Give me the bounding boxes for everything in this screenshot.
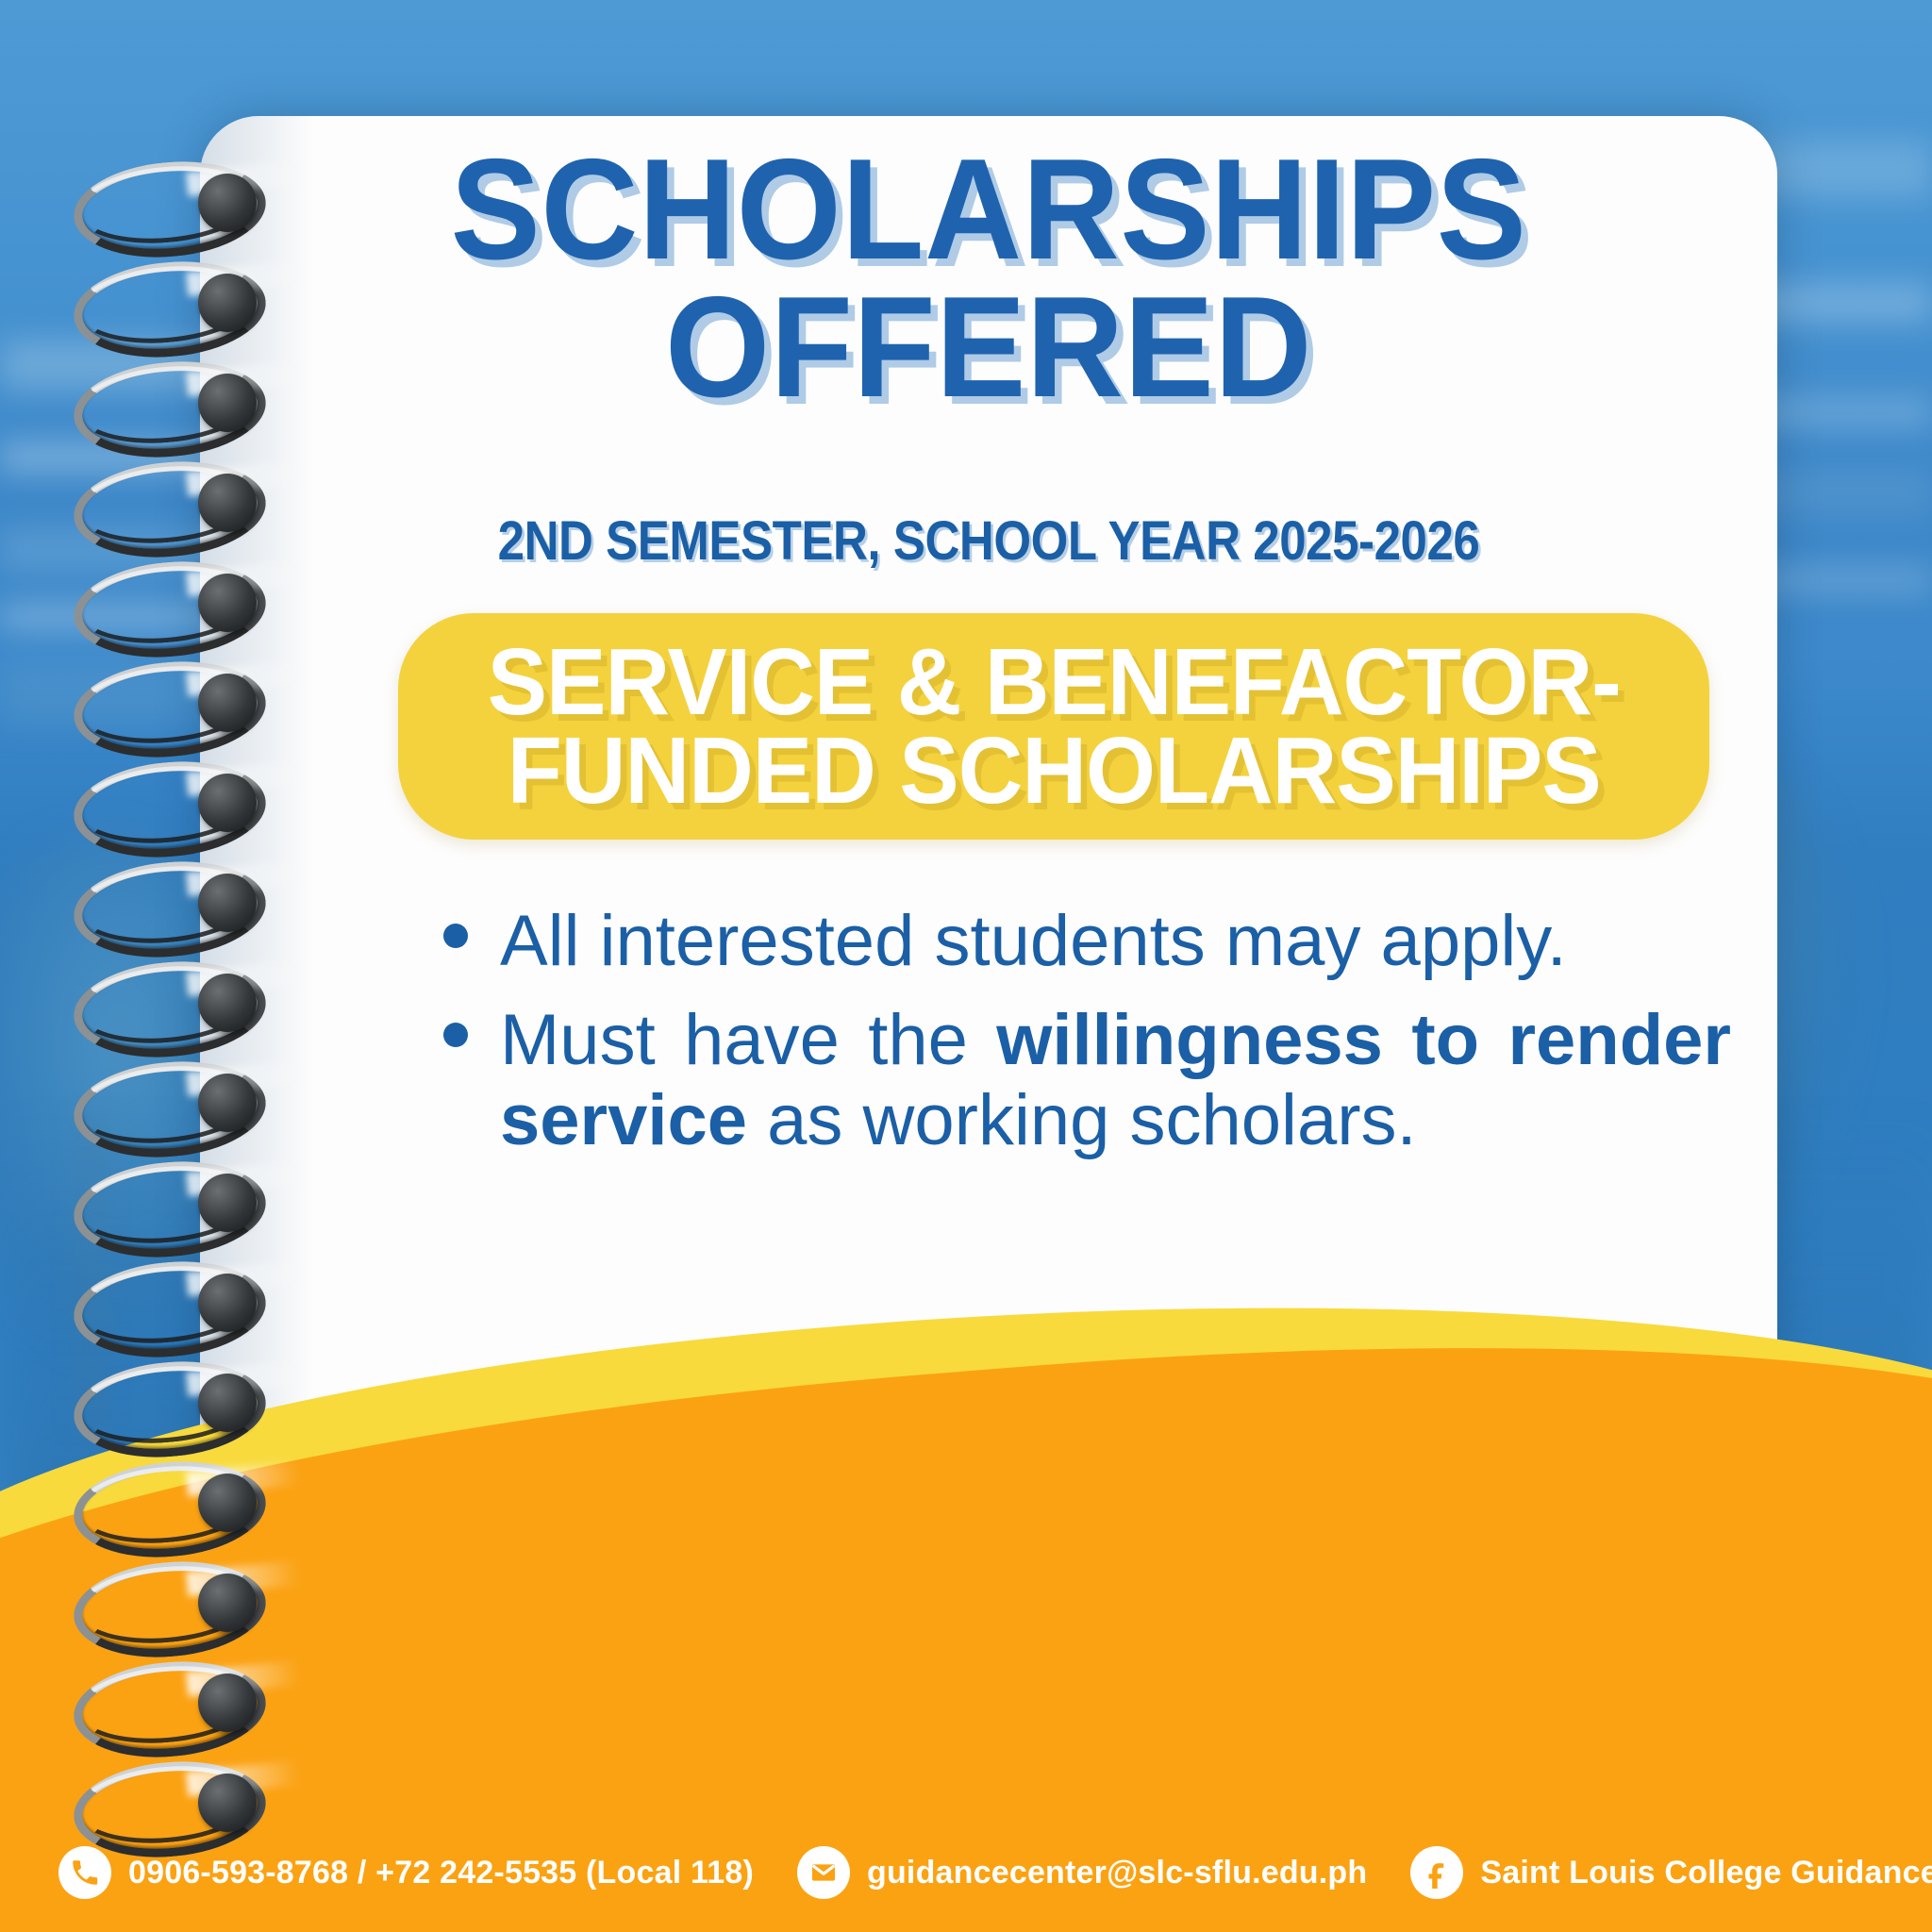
headline-line-1: SCHOLARSHIPS: [451, 129, 1527, 290]
spiral-ring: [74, 562, 272, 641]
bullet-2-pre: Must have the: [500, 1000, 996, 1080]
bullet-text-1: All interested students may apply.: [500, 901, 1731, 981]
spiral-ring: [74, 1462, 272, 1541]
requirements-list: All interested students may apply. Must …: [443, 901, 1731, 1179]
banner-text: SERVICE & BENEFACTOR- FUNDED SCHOLARSHIP…: [464, 638, 1644, 815]
envelope-icon: [797, 1846, 850, 1899]
facebook-text: Saint Louis College Guidance Center: [1480, 1855, 1932, 1891]
spiral-ring: [74, 1162, 272, 1241]
spiral-ring: [74, 362, 272, 441]
spiral-ring: [74, 1762, 272, 1841]
spiral-ring: [74, 862, 272, 941]
spiral-ring: [74, 762, 272, 841]
bullet-dot-icon: [443, 1023, 468, 1047]
spiral-ring: [74, 1262, 272, 1341]
bullet-text-2: Must have the willingness to render serv…: [500, 1000, 1731, 1160]
spiral-binding: [0, 0, 396, 1932]
list-item: All interested students may apply.: [443, 901, 1731, 981]
bullet-2-post: as working scholars.: [747, 1080, 1417, 1160]
spiral-ring: [74, 1362, 272, 1441]
contact-facebook[interactable]: Saint Louis College Guidance Center: [1410, 1846, 1932, 1899]
banner-line-2: FUNDED SCHOLARSHIPS: [487, 726, 1620, 815]
poster-canvas: SCHOLARSHIPS OFFERED 2ND SEMESTER, SCHOO…: [0, 0, 1932, 1932]
email-text: guidancecenter@slc-sflu.edu.ph: [867, 1855, 1367, 1891]
spiral-ring: [74, 662, 272, 741]
spiral-ring: [74, 1662, 272, 1741]
scholarship-category-banner: SERVICE & BENEFACTOR- FUNDED SCHOLARSHIP…: [398, 613, 1709, 840]
spiral-ring: [74, 162, 272, 241]
spiral-ring: [74, 462, 272, 541]
spiral-ring: [74, 1062, 272, 1141]
headline-line-2: OFFERED: [247, 279, 1730, 417]
page-title: SCHOLARSHIPS OFFERED: [247, 142, 1730, 417]
spiral-ring: [74, 262, 272, 341]
bullet-dot-icon: [443, 924, 468, 948]
spiral-ring: [74, 962, 272, 1041]
facebook-icon: [1410, 1846, 1463, 1899]
contact-email[interactable]: guidancecenter@slc-sflu.edu.ph: [797, 1846, 1367, 1899]
page-subtitle: 2ND SEMESTER, SCHOOL YEAR 2025-2026: [294, 509, 1682, 573]
spiral-ring: [74, 1562, 272, 1641]
list-item: Must have the willingness to render serv…: [443, 1000, 1731, 1160]
